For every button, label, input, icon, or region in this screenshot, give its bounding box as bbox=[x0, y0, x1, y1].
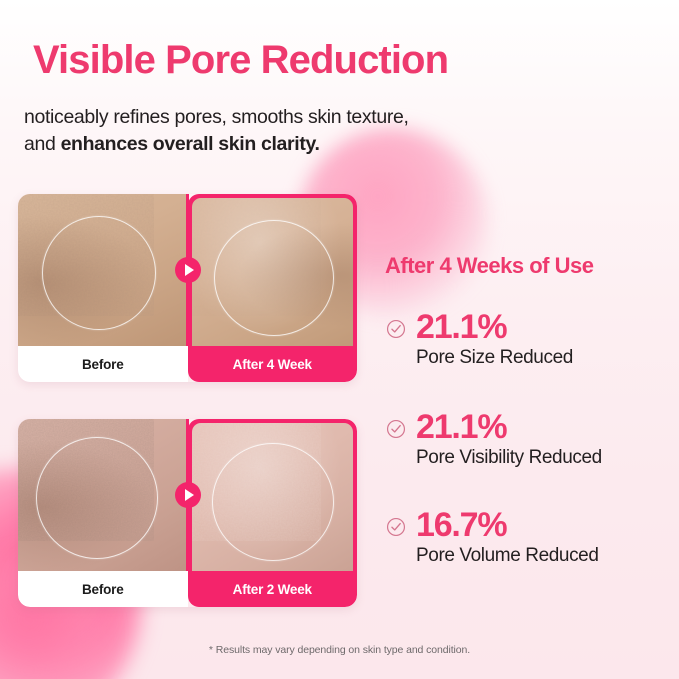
check-circle-icon bbox=[385, 516, 407, 538]
before-half: Before bbox=[18, 419, 188, 607]
after-half: After 4 Week bbox=[188, 194, 358, 382]
after-half: After 2 Week bbox=[188, 419, 358, 607]
zoom-ring-marker bbox=[42, 216, 156, 330]
stat-pore-size: 21.1% Pore Size Reduced bbox=[385, 310, 573, 369]
comparison-card-2-week[interactable]: Before bbox=[18, 419, 357, 607]
stat-row: 21.1% bbox=[385, 410, 602, 444]
poster-root: Visible Pore Reduction noticeably refine… bbox=[0, 0, 679, 679]
stat-row: 21.1% bbox=[385, 310, 573, 344]
zoom-ring-marker bbox=[36, 437, 158, 559]
stat-label: Pore Visibility Reduced bbox=[416, 447, 602, 469]
stat-percent: 21.1% bbox=[416, 410, 506, 444]
subtitle: noticeably refines pores, smooths skin t… bbox=[24, 104, 409, 158]
play-icon[interactable] bbox=[175, 257, 201, 283]
play-triangle bbox=[185, 489, 194, 501]
subtitle-regular-text: and bbox=[24, 133, 61, 155]
disclaimer-text: * Results may vary depending on skin typ… bbox=[0, 644, 679, 656]
stat-label: Pore Volume Reduced bbox=[416, 545, 599, 567]
stats-heading: After 4 Weeks of Use bbox=[385, 253, 593, 279]
page-title: Visible Pore Reduction bbox=[33, 38, 448, 83]
zoom-ring-marker bbox=[214, 220, 334, 336]
stat-label: Pore Size Reduced bbox=[416, 347, 573, 369]
subtitle-line-2: and enhances overall skin clarity. bbox=[24, 131, 409, 158]
subtitle-line-1: noticeably refines pores, smooths skin t… bbox=[24, 104, 409, 131]
subtitle-bold-text: enhances overall skin clarity. bbox=[61, 133, 320, 155]
stat-pore-volume: 16.7% Pore Volume Reduced bbox=[385, 508, 599, 567]
after-label-2-week: After 2 Week bbox=[188, 571, 358, 607]
zoom-ring-marker bbox=[212, 443, 334, 561]
after-label-4-week: After 4 Week bbox=[188, 346, 358, 382]
stat-percent: 16.7% bbox=[416, 508, 506, 542]
stat-percent: 21.1% bbox=[416, 310, 506, 344]
before-label-4-week: Before bbox=[18, 346, 188, 382]
comparison-card-4-week[interactable]: Before bbox=[18, 194, 357, 382]
before-photo-2-week bbox=[18, 419, 188, 571]
check-circle-icon bbox=[385, 418, 407, 440]
stat-row: 16.7% bbox=[385, 508, 599, 542]
before-photo-4-week bbox=[18, 194, 188, 346]
play-icon[interactable] bbox=[175, 482, 201, 508]
before-half: Before bbox=[18, 194, 188, 382]
play-triangle bbox=[185, 264, 194, 276]
stat-pore-visibility: 21.1% Pore Visibility Reduced bbox=[385, 410, 602, 469]
check-circle-icon bbox=[385, 318, 407, 340]
after-photo-4-week bbox=[192, 198, 354, 346]
before-label-2-week: Before bbox=[18, 571, 188, 607]
after-photo-2-week bbox=[192, 423, 354, 571]
